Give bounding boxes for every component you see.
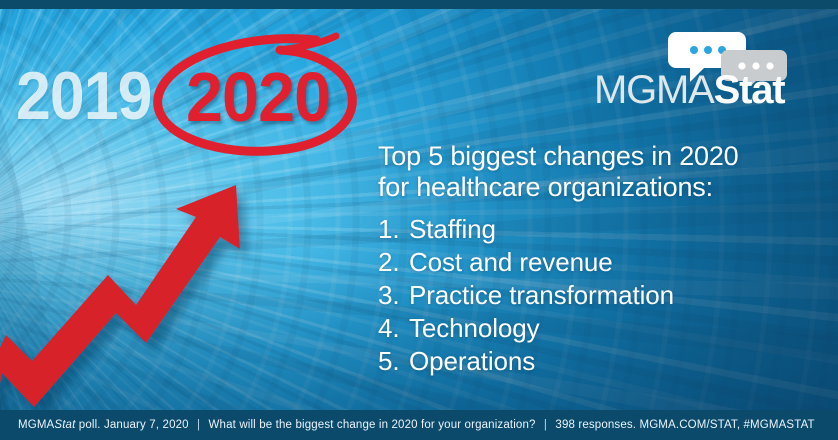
infographic-canvas: 2019 2020 <box>0 0 838 440</box>
list-item: 5.Operations <box>378 345 674 378</box>
list-item-label: Staffing <box>409 213 496 246</box>
list-item-label: Cost and revenue <box>409 246 613 279</box>
footer-question: What will be the biggest change in 2020 … <box>205 419 539 431</box>
footer-attribution: MGMAStat poll. January 7, 2020 | What wi… <box>0 419 815 431</box>
list-item-label: Technology <box>409 312 540 345</box>
headline: Top 5 biggest changes in 2020 for health… <box>378 141 738 203</box>
list-item-number: 3. <box>378 279 409 312</box>
year-current: 2020 <box>186 62 330 132</box>
footer-product: Stat <box>54 419 75 431</box>
footer-poll-date: poll. January 7, 2020 <box>75 419 192 431</box>
list-item-number: 1. <box>378 213 409 246</box>
red-trend-arrow <box>0 165 290 415</box>
list-item: 3.Practice transformation <box>378 279 674 312</box>
footer-responses: 398 responses. MGMA.COM/STAT, #MGMASTAT <box>552 419 815 431</box>
list-item: 1.Staffing <box>378 213 674 246</box>
headline-line-1: Top 5 biggest changes in 2020 <box>378 141 738 172</box>
logo-wordmark: MGMAStat <box>594 70 784 110</box>
mgma-stat-logo: MGMAStat <box>594 30 794 110</box>
footer-bar: MGMAStat poll. January 7, 2020 | What wi… <box>0 410 838 440</box>
list-item-label: Practice transformation <box>409 279 674 312</box>
list-item: 4.Technology <box>378 312 674 345</box>
top-bar <box>0 0 838 9</box>
footer-brand: MGMA <box>18 419 54 431</box>
list-item-label: Operations <box>409 345 535 378</box>
footer-separator-1: | <box>192 419 205 431</box>
list-item-number: 5. <box>378 345 409 378</box>
headline-line-2: for healthcare organizations: <box>378 172 738 203</box>
top-changes-list: 1.Staffing 2.Cost and revenue 3.Practice… <box>378 213 674 378</box>
list-item: 2.Cost and revenue <box>378 246 674 279</box>
list-item-number: 4. <box>378 312 409 345</box>
year-previous: 2019 <box>16 62 151 130</box>
logo-brand: MGMA <box>594 68 714 112</box>
list-item-number: 2. <box>378 246 409 279</box>
logo-product: Stat <box>714 68 785 112</box>
footer-separator-2: | <box>539 419 552 431</box>
